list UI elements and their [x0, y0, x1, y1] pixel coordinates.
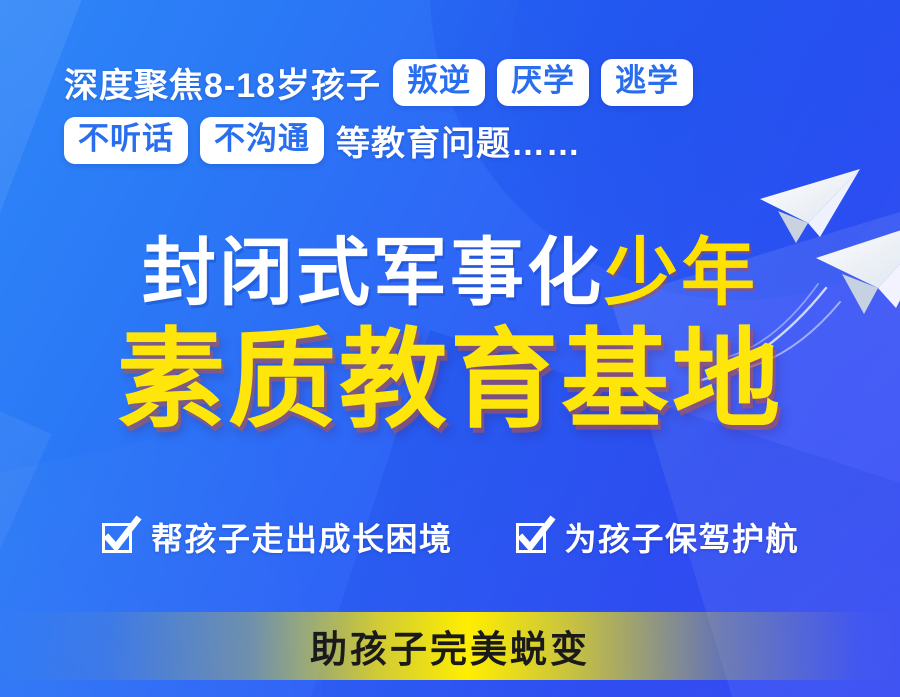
footer-banner: 助孩子完美蜕变 — [0, 612, 900, 680]
footer-slogan: 助孩子完美蜕变 — [310, 619, 590, 673]
feature-label: 帮孩子走出成长困境 — [151, 514, 453, 560]
feature-item: 为孩子保驾护航 — [515, 514, 800, 560]
main-title-line-1: 封闭式军事化少年 — [0, 236, 900, 310]
header-trailing-text: 等教育问题…… — [336, 116, 581, 165]
main-title: 封闭式军事化少年 素质教育基地 — [0, 236, 900, 434]
tag-disobedient[interactable]: 不听话 — [64, 117, 188, 165]
feature-label: 为孩子保驾护航 — [565, 514, 800, 560]
header-lead-text: 深度聚焦8-18岁孩子 — [64, 58, 381, 107]
checkbox-checked-icon — [515, 519, 552, 556]
main-title-line-1-white: 封闭式军事化 — [142, 231, 604, 314]
tag-no-communication[interactable]: 不沟通 — [200, 117, 324, 165]
header-line-1: 深度聚焦8-18岁孩子 叛逆 厌学 逃学 — [64, 58, 854, 107]
feature-item: 帮孩子走出成长困境 — [101, 514, 453, 560]
header-block: 深度聚焦8-18岁孩子 叛逆 厌学 逃学 不听话 不沟通 等教育问题…… — [64, 58, 854, 174]
tag-truancy[interactable]: 逃学 — [601, 59, 693, 107]
tag-school-aversion[interactable]: 厌学 — [497, 59, 589, 107]
main-title-line-2: 素质教育基地 — [0, 326, 900, 434]
checkbox-checked-icon — [101, 519, 138, 556]
header-line-2: 不听话 不沟通 等教育问题…… — [64, 116, 854, 165]
tag-rebellious[interactable]: 叛逆 — [393, 59, 485, 107]
main-title-line-1-yellow: 少年 — [604, 231, 758, 314]
promo-banner: 深度聚焦8-18岁孩子 叛逆 厌学 逃学 不听话 不沟通 等教育问题…… 封闭式… — [0, 0, 900, 697]
feature-list: 帮孩子走出成长困境 为孩子保驾护航 — [0, 514, 900, 560]
